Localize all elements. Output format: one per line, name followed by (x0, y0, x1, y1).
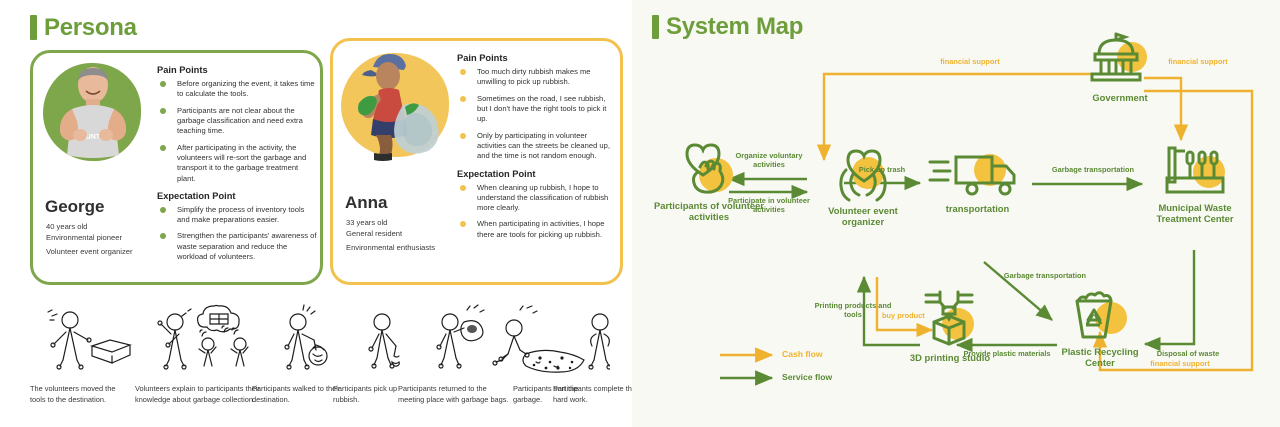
storyboard: The volunteers moved the tools to the de… (30, 298, 610, 418)
persona-photo-anna (343, 47, 449, 163)
edge-label-financial-left: financial support (920, 58, 1020, 67)
persona-details-george: Pain Points Before organizing the event,… (157, 65, 317, 268)
list-item: When participating in activities, I hope… (457, 219, 617, 240)
persona-name-anna: Anna (345, 193, 388, 213)
truck-icon (928, 150, 1028, 198)
list-item: Simplify the process of inventory tools … (157, 205, 317, 226)
persona-age-anna: 33 years old (346, 217, 402, 228)
persona-descriptor-anna: General resident (346, 228, 402, 239)
storyboard-caption-2: Volunteers explain to participants their… (135, 384, 260, 405)
node-municipal-waste[interactable]: Municipal Waste Treatment Center (1136, 142, 1254, 225)
edge-label-participate: Participate in volunteer activities (728, 197, 810, 215)
storyboard-sketches (30, 298, 610, 380)
edge-label-organize: Organize voluntary activities (728, 152, 810, 170)
list-item: Only by participating in volunteer activ… (457, 131, 617, 162)
list-item: Before organizing the event, it takes ti… (157, 79, 317, 100)
list-item: Too much dirty rubbish makes me unwillin… (457, 67, 617, 88)
list-item: Sometimes on the road, I see rubbish, bu… (457, 94, 617, 125)
persona-meta-anna: 33 years old General resident (346, 217, 402, 239)
persona-card-anna: Anna 33 years old General resident Envir… (330, 38, 623, 285)
persona-section-title: Persona (30, 15, 137, 40)
node-label-government: Government (1062, 92, 1178, 103)
government-building-icon (1085, 30, 1155, 88)
persona-identity-anna: Anna 33 years old General resident Envir… (333, 41, 451, 282)
persona-meta-george: 40 years old Environmental pioneer (46, 221, 122, 243)
node-label-organizer: Volunteer event organizer (808, 205, 918, 228)
storyboard-caption-5: Participants returned to the meeting pla… (398, 384, 510, 405)
list-item: After participating in the activity, the… (157, 143, 317, 184)
recycling-bin-icon (1067, 288, 1133, 342)
storyboard-caption-1: The volunteers moved the tools to the de… (30, 384, 128, 405)
node-organizer[interactable]: Volunteer event organizer (808, 146, 918, 228)
list-item: Strengthen the participants' awareness o… (157, 231, 317, 262)
legend-label-service-flow: Service flow (782, 372, 832, 382)
edge-label-pickup: Pick up trash (844, 166, 920, 175)
persona-panel: Persona VOLUNTEE (0, 0, 632, 427)
poster-root: Persona VOLUNTEE (0, 0, 1280, 427)
system-map-panel: System Map (632, 0, 1280, 427)
pain-points-list-george: Before organizing the event, it takes ti… (157, 79, 317, 184)
edge-label-financial-bottom: financial support (1130, 360, 1230, 369)
node-label-municipal-waste: Municipal Waste Treatment Center (1136, 202, 1254, 225)
expectation-list-george: Simplify the process of inventory tools … (157, 205, 317, 263)
persona-role-anna: Environmental enthusiasts (346, 243, 435, 252)
list-item: When cleaning up rubbish, I hope to unde… (457, 183, 617, 214)
edge-label-financial-right: financial support (1148, 58, 1248, 67)
title-accent-bar (30, 15, 37, 40)
persona-age-george: 40 years old (46, 221, 122, 232)
pain-points-heading-anna: Pain Points (457, 53, 617, 63)
edge-label-garbage-transport-1: Garbage transportation (1038, 166, 1148, 175)
list-item: Participants are not clear about the gar… (157, 106, 317, 137)
persona-descriptor-george: Environmental pioneer (46, 232, 122, 243)
persona-role-george: Volunteer event organizer (46, 247, 133, 256)
waste-treatment-plant-icon (1159, 142, 1231, 198)
edge-label-provide-plastic: Provide plastic materials (962, 350, 1052, 359)
edge-label-printing-products: Printing products and tools (814, 302, 892, 320)
system-map-diagram: Participants of volunteer activities Vol… (632, 0, 1280, 427)
persona-name-george: George (45, 197, 105, 217)
edge-label-buy-product: buy product (882, 312, 944, 321)
edge-label-disposal: Disposal of waste (1142, 350, 1234, 359)
node-label-transportation: transportation (920, 203, 1035, 214)
persona-title-text: Persona (44, 16, 137, 40)
edge-label-garbage-transport-2: Garbage transportation (990, 272, 1100, 281)
persona-photo-george: VOLUNTEER (47, 61, 139, 163)
node-plastic-recycling[interactable]: Plastic Recycling Center (1050, 288, 1150, 369)
pain-points-heading-george: Pain Points (157, 65, 317, 75)
expectation-heading-george: Expectation Point (157, 191, 317, 201)
persona-identity-george: VOLUNTEER George 40 (33, 53, 151, 282)
persona-details-anna: Pain Points Too much dirty rubbish makes… (457, 53, 617, 246)
persona-card-george: VOLUNTEER George 40 (30, 50, 323, 285)
expectation-list-anna: When cleaning up rubbish, I hope to unde… (457, 183, 617, 241)
pain-points-list-anna: Too much dirty rubbish makes me unwillin… (457, 67, 617, 162)
legend-label-cash-flow: Cash flow (782, 349, 823, 359)
expectation-heading-anna: Expectation Point (457, 169, 617, 179)
node-transportation[interactable]: transportation (920, 150, 1035, 214)
